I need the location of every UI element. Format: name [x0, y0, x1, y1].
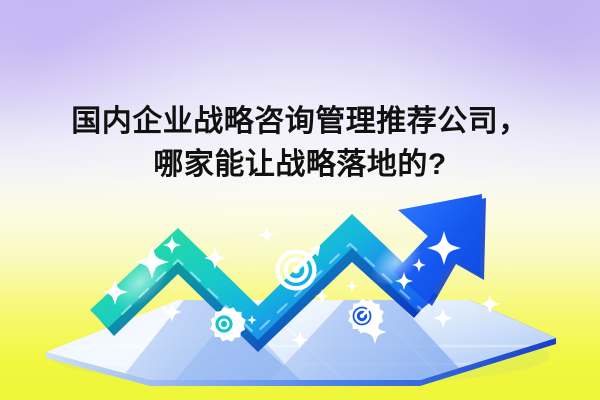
poster-canvas: 国内企业战略咨询管理推荐公司， 哪家能让战略落地的?: [0, 0, 600, 400]
page-title: 国内企业战略咨询管理推荐公司， 哪家能让战略落地的?: [0, 100, 600, 186]
headline-line-2: 哪家能让战略落地的?: [0, 143, 600, 186]
headline-line-1: 国内企业战略咨询管理推荐公司，: [0, 100, 600, 143]
illustration: [0, 0, 600, 400]
